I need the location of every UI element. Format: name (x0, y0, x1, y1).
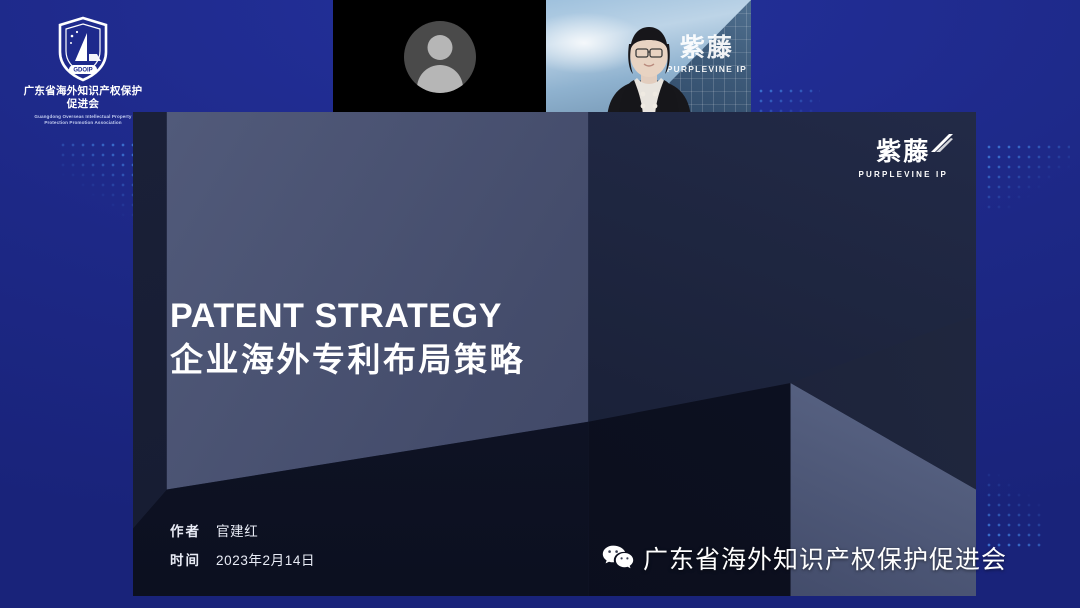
association-name-en: Guangdong Overseas Intellectual Property… (22, 114, 144, 126)
slide-metadata: 作者 官建红 时间 2023年2月14日 (170, 520, 315, 578)
slide-meta-author-value: 官建红 (216, 520, 258, 540)
slide-meta-author: 作者 官建红 (170, 520, 315, 540)
avatar-head (427, 35, 452, 60)
watermark-text: 广东省海外知识产权保护促进会 (643, 540, 1007, 576)
slide-title-en: PATENT STRATEGY (170, 298, 525, 335)
gdoip-shield-icon: GDOIP (56, 16, 110, 82)
avatar-body (417, 65, 463, 93)
slide-meta-author-label: 作者 (170, 520, 216, 540)
webinar-stage: GDOIP 广东省海外知识产权保护促进会 Guangdong Overseas … (0, 0, 1080, 608)
default-avatar-icon (404, 21, 476, 93)
wechat-watermark: 广东省海外知识产权保护促进会 (602, 540, 1007, 576)
presenter-figure (589, 14, 709, 117)
dot-pattern-right-top (984, 142, 1070, 214)
slide-meta-date-label: 时间 (170, 549, 216, 569)
presenter-tile[interactable]: 紫藤 PURPLEVINE IP (546, 0, 751, 117)
avatar-placeholder-tile[interactable] (333, 0, 546, 113)
slide-meta-date: 时间 2023年2月14日 (170, 549, 315, 569)
association-name-cn: 广东省海外知识产权保护促进会 (22, 85, 144, 112)
slide-meta-date-value: 2023年2月14日 (216, 549, 315, 569)
slide-title-cn: 企业海外专利布局策略 (170, 340, 525, 380)
wechat-icon (602, 544, 634, 572)
dot-pattern-right-bottom (984, 470, 1044, 548)
slide-title-block: PATENT STRATEGY 企业海外专利布局策略 (170, 298, 525, 380)
slide-logo-en: PURPLEVINE IP (858, 170, 948, 179)
purplevine-wing-icon (928, 133, 954, 155)
presentation-slide[interactable]: 紫藤 PURPLEVINE IP PATENT STRATEGY 企业海外专利布… (133, 112, 976, 596)
slide-logo: 紫藤 PURPLEVINE IP (858, 140, 948, 179)
association-branding: GDOIP 广东省海外知识产权保护促进会 Guangdong Overseas … (22, 16, 144, 126)
svg-text:GDOIP: GDOIP (73, 68, 92, 74)
